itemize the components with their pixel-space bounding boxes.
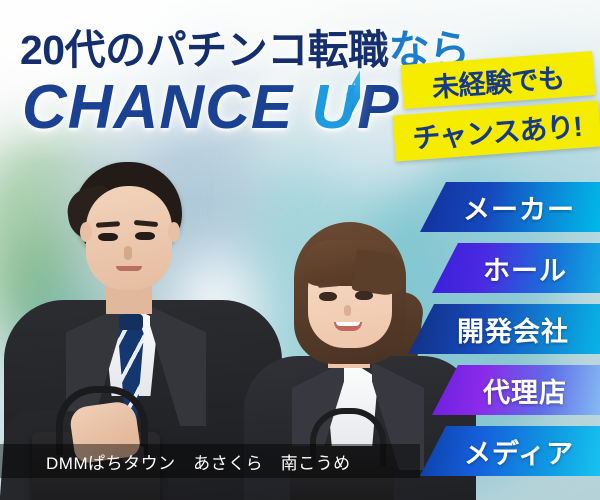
category-label-maker: メーカー: [445, 188, 575, 227]
banner-advertisement: 20代のパチンコ転職なら CHANCE UP 未経験でも チャンスあり! メーカ…: [0, 0, 600, 500]
category-label-hall: ホール: [465, 249, 567, 288]
category-button-list: メーカー ホール 開発会社 代理店 メディア: [0, 0, 600, 500]
category-label-media: メディア: [446, 432, 574, 471]
category-button-hall[interactable]: ホール: [432, 243, 600, 293]
category-button-agency[interactable]: 代理店: [432, 365, 600, 415]
category-label-agency: 代理店: [465, 371, 567, 410]
credit-text: DMMぱちタウン あさくら 南こうめ: [46, 449, 351, 474]
credit-bar: DMMぱちタウン あさくら 南こうめ: [0, 444, 420, 478]
category-button-maker[interactable]: メーカー: [420, 182, 600, 232]
category-button-media[interactable]: メディア: [420, 426, 600, 476]
category-label-development-company: 開発会社: [439, 310, 569, 349]
category-button-development-company[interactable]: 開発会社: [408, 304, 600, 354]
